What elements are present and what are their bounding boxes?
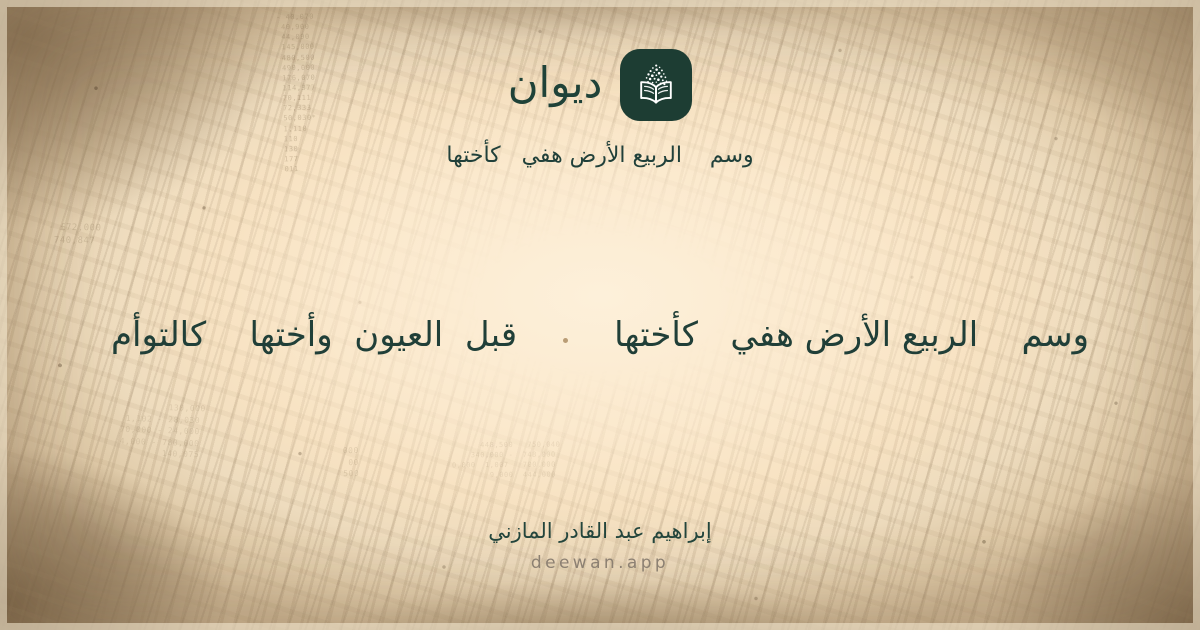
poet-name: إبراهيم عبد القادر المازني — [488, 521, 711, 542]
share-card: 40,070 - 40,900 44,090 145,000 480,500 4… — [0, 0, 1200, 630]
card-content: ديوان وسم الربيع الأرض هفي كأختها وسم ال… — [0, 0, 1200, 630]
verse-second-hemistich: قبل العيون وأختها كالتوأم — [111, 311, 517, 360]
verse-line: وسم الربيع الأرض هفي كأختها قبل العيون و… — [111, 311, 1089, 360]
brand-name: ديوان — [508, 62, 603, 108]
card-footer: إبراهيم عبد القادر المازني deewan.app — [0, 521, 1200, 572]
site-url[interactable]: deewan.app — [531, 555, 669, 572]
verse-first-hemistich: وسم الربيع الأرض هفي كأختها — [614, 311, 1089, 360]
poem-subtitle: وسم الربيع الأرض هفي كأختها — [446, 139, 753, 172]
verse-separator-dot — [563, 338, 568, 343]
brand-lockup: ديوان — [508, 49, 693, 121]
verse-container: وسم الربيع الأرض هفي كأختها قبل العيون و… — [0, 311, 1200, 360]
open-book-sparkles-icon — [620, 49, 692, 121]
